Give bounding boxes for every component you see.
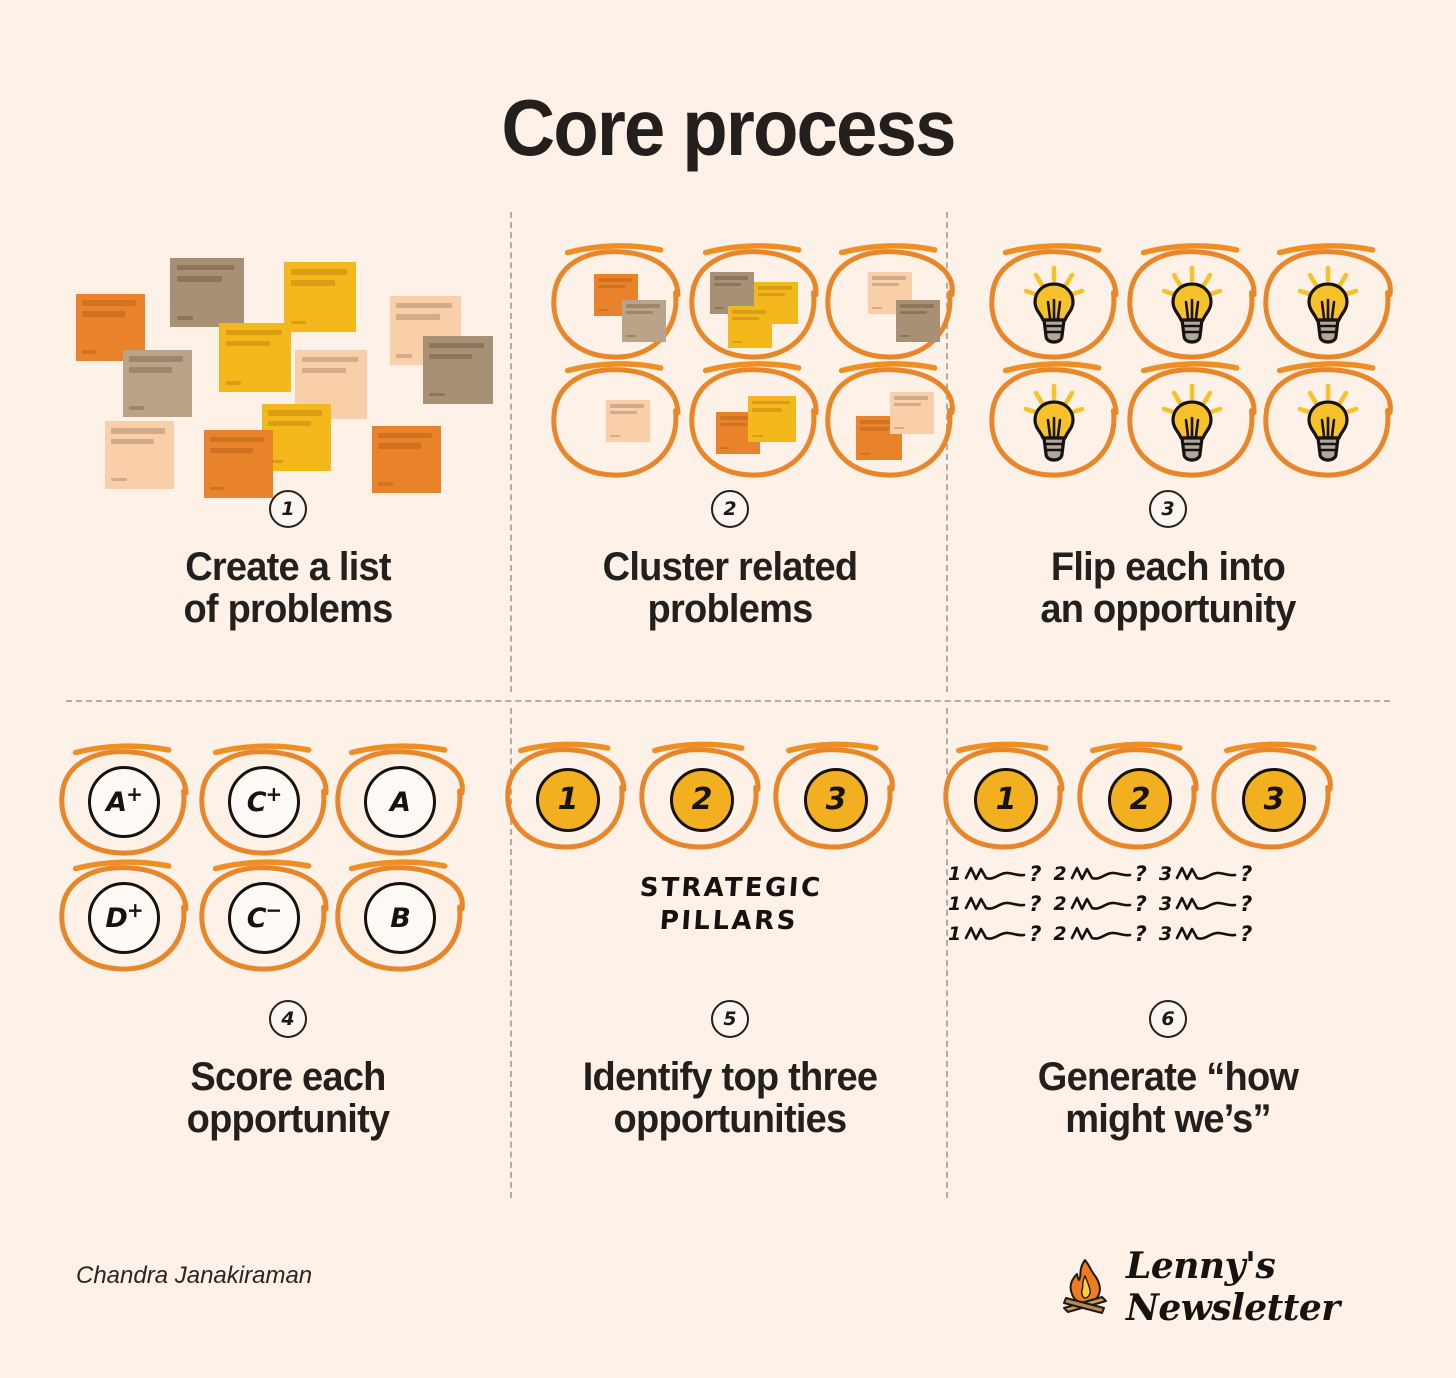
hmw-row-number: 3 [1159, 863, 1172, 885]
step-2-title: Cluster related problems [512, 546, 949, 631]
sticky-note-text-bar [226, 330, 282, 336]
sticky-note-text-bar [598, 278, 632, 281]
brand-name: Lenny's Newsletter [1126, 1245, 1456, 1329]
sticky-note-text-bar [111, 439, 154, 444]
step-5-illustration: 123STRATEGICPILLARS [500, 740, 960, 1000]
divider-horizontal [66, 700, 1390, 702]
hmw-row: 3? [1159, 892, 1252, 916]
hmw-question-mark: ? [1029, 892, 1041, 916]
sticky-note-text-bar [758, 286, 792, 289]
sticky-note [896, 300, 940, 342]
step-panel-1: 1 Create a list of problems [58, 240, 518, 631]
rank-number: 2 [1130, 785, 1151, 815]
hmw-row-number: 1 [948, 863, 961, 885]
sticky-note-text-bar [268, 410, 322, 415]
sticky-note-text-bar [111, 428, 165, 433]
step-3-number: 3 [1149, 490, 1187, 528]
sticky-note-text-bar [860, 453, 870, 455]
sticky-note-text-bar [872, 276, 906, 279]
sticky-note [890, 392, 934, 434]
step-1-number: 1 [269, 490, 307, 528]
sticky-note-text-bar [752, 408, 782, 412]
rank-circle: 2 [670, 768, 734, 832]
rank-number: 1 [996, 785, 1017, 815]
sticky-note [105, 421, 174, 488]
step-panel-2: 2 Cluster related problems [500, 240, 960, 631]
grade-label: D+ [105, 905, 142, 932]
step-5-title-line1: Identify top three [512, 1056, 949, 1098]
lightbulb-icon [1016, 380, 1092, 468]
sticky-note [606, 400, 650, 442]
step-1-title-line2: of problems [70, 588, 507, 630]
step-5-title: Identify top three opportunities [512, 1056, 949, 1141]
step-2-title-line1: Cluster related [512, 546, 949, 588]
grade-label: A [390, 789, 410, 816]
grade-label: B [390, 905, 410, 932]
rank-circle: 2 [1108, 768, 1172, 832]
grade-circle: A [364, 766, 436, 838]
step-panel-3: 3 Flip each into an opportunity [938, 240, 1398, 631]
sticky-note-text-bar [732, 310, 766, 313]
hmw-row: 3? [1159, 922, 1252, 946]
sticky-note-text-bar [226, 381, 242, 384]
sticky-note-text-bar [302, 357, 358, 363]
sticky-note [219, 323, 291, 392]
sticky-note-text-bar [177, 316, 193, 319]
hmw-column: 3?3?3? [1159, 862, 1252, 946]
step-4-illustration: A+C+AD+C−B [58, 740, 518, 1000]
pillars-line2: PILLARS [498, 905, 960, 938]
sticky-note-text-bar [396, 354, 412, 357]
sticky-note-text-bar [758, 293, 785, 296]
hmw-row-number: 2 [1053, 923, 1066, 945]
infographic-page: Core process 1 Create a list of problems… [0, 0, 1456, 1378]
step-6-illustration: 1231?1?1?2?2?2?3?3?3? [938, 740, 1398, 1000]
sticky-note-text-bar [129, 406, 144, 409]
sticky-note-text-bar [610, 411, 637, 414]
grade-circle: C− [228, 882, 300, 954]
sticky-note-text-bar [210, 437, 264, 442]
sticky-note-text-bar [177, 265, 235, 271]
sticky-note [123, 350, 192, 417]
hmw-row: 1? [948, 922, 1041, 946]
sticky-note-text-bar [610, 435, 620, 437]
hmw-question-mark: ? [1029, 862, 1041, 886]
sticky-note-text-bar [872, 307, 882, 309]
hmw-column: 1?1?1? [948, 862, 1041, 946]
hmw-row: 2? [1053, 862, 1146, 886]
hmw-row-number: 2 [1053, 863, 1066, 885]
pillars-line1: STRATEGIC [500, 872, 962, 905]
sticky-note-text-bar [900, 335, 910, 337]
sticky-note-text-bar [177, 276, 223, 282]
step-2-number: 2 [711, 490, 749, 528]
step-6-title: Generate “how might we’s” [950, 1056, 1387, 1141]
sticky-note-text-bar [82, 350, 97, 353]
sticky-note-text-bar [752, 401, 789, 405]
sticky-note-text-bar [210, 448, 253, 453]
hmw-question-mark: ? [1240, 892, 1252, 916]
step-5-number: 5 [711, 1000, 749, 1038]
step-2-illustration [500, 240, 960, 490]
rank-number: 2 [692, 785, 713, 815]
how-might-we-list: 1?1?1?2?2?2?3?3?3? [948, 862, 1252, 946]
step-6-number: 6 [1149, 1000, 1187, 1038]
hmw-row-number: 1 [948, 893, 961, 915]
rank-number: 1 [558, 785, 579, 815]
hmw-row-number: 3 [1159, 893, 1172, 915]
hmw-question-mark: ? [1029, 922, 1041, 946]
sticky-note-text-bar [429, 354, 472, 359]
sticky-note-text-bar [732, 317, 759, 320]
grade-circle: C+ [228, 766, 300, 838]
step-3-title: Flip each into an opportunity [950, 546, 1387, 631]
step-5-title-line2: opportunities [512, 1098, 949, 1140]
sticky-note-text-bar [129, 367, 172, 372]
rank-circle: 1 [974, 768, 1038, 832]
sticky-note [170, 258, 244, 327]
rank-circle: 3 [1242, 768, 1306, 832]
campfire-icon [1058, 1256, 1112, 1319]
sticky-note [284, 262, 356, 331]
sticky-note [748, 396, 796, 442]
step-6-title-line2: might we’s” [950, 1098, 1387, 1140]
sticky-note-text-bar [378, 443, 421, 448]
rank-number: 3 [826, 785, 847, 815]
step-1-illustration [58, 240, 518, 490]
sticky-note-text-bar [732, 341, 742, 343]
sticky-note-text-bar [894, 396, 928, 399]
step-1-title: Create a list of problems [70, 546, 507, 631]
sticky-note [622, 300, 666, 342]
sticky-note-text-bar [720, 423, 747, 426]
sticky-note-text-bar [894, 403, 921, 406]
sticky-note-text-bar [396, 303, 452, 309]
step-3-title-line1: Flip each into [950, 546, 1387, 588]
sticky-note-text-bar [714, 283, 741, 286]
step-4-title-line2: opportunity [70, 1098, 507, 1140]
sticky-note-text-bar [291, 280, 335, 286]
grade-label: A+ [106, 789, 142, 816]
lightbulb-icon [1016, 262, 1092, 350]
sticky-note-text-bar [429, 343, 483, 348]
hmw-row-number: 1 [948, 923, 961, 945]
sticky-note-text-bar [714, 307, 724, 309]
step-1-title-line1: Create a list [70, 546, 507, 588]
hmw-question-mark: ? [1240, 922, 1252, 946]
sticky-note [728, 306, 772, 348]
sticky-note-text-bar [894, 427, 904, 429]
step-6-title-line1: Generate “how [950, 1056, 1387, 1098]
sticky-note-text-bar [378, 482, 393, 485]
sticky-note-text-bar [598, 285, 625, 288]
sticky-note-text-bar [860, 427, 889, 431]
rank-number: 3 [1264, 785, 1285, 815]
sticky-note-text-bar [302, 368, 346, 374]
sticky-note-text-bar [872, 283, 899, 286]
brand-logo: Lenny's Newsletter [1058, 1245, 1456, 1329]
sticky-note-text-bar [396, 314, 440, 320]
sticky-note-text-bar [626, 311, 653, 314]
sticky-note-text-bar [82, 311, 125, 316]
sticky-note [372, 426, 441, 493]
hmw-question-mark: ? [1135, 892, 1147, 916]
grade-label: C− [247, 905, 282, 932]
rank-circle: 1 [536, 768, 600, 832]
hmw-question-mark: ? [1240, 862, 1252, 886]
hmw-row: 2? [1053, 892, 1146, 916]
hmw-row: 2? [1053, 922, 1146, 946]
author-credit: Chandra Janakiraman [76, 1262, 312, 1290]
sticky-note-text-bar [129, 356, 183, 361]
lightbulb-icon [1290, 262, 1366, 350]
grade-circle: A+ [88, 766, 160, 838]
step-4-title-line1: Score each [70, 1056, 507, 1098]
hmw-question-mark: ? [1135, 922, 1147, 946]
sticky-note-text-bar [720, 447, 730, 449]
hmw-column: 2?2?2? [1053, 862, 1146, 946]
sticky-note-text-bar [111, 478, 126, 481]
hmw-row: 3? [1159, 862, 1252, 886]
sticky-note [204, 430, 273, 497]
sticky-note-text-bar [82, 300, 136, 305]
lightbulb-icon [1290, 380, 1366, 468]
sticky-note-text-bar [900, 304, 934, 307]
lightbulb-icon [1154, 380, 1230, 468]
sticky-note [423, 336, 492, 403]
sticky-note-text-bar [429, 393, 444, 396]
page-title: Core process [51, 82, 1405, 174]
step-panel-5: 123STRATEGICPILLARS 5 Identify top three… [500, 740, 960, 1141]
step-4-title: Score each opportunity [70, 1056, 507, 1141]
step-3-illustration [938, 240, 1398, 490]
sticky-note-text-bar [610, 404, 644, 407]
step-panel-6: 1231?1?1?2?2?2?3?3?3? 6 Generate “how mi… [938, 740, 1398, 1141]
sticky-note-text-bar [291, 269, 347, 275]
sticky-note-text-bar [378, 433, 432, 438]
hmw-row-number: 3 [1159, 923, 1172, 945]
hmw-row: 1? [948, 862, 1041, 886]
step-panel-4: A+C+AD+C−B 4 Score each opportunity [58, 740, 518, 1141]
sticky-note-text-bar [714, 276, 748, 279]
sticky-note-text-bar [268, 421, 311, 426]
step-2-title-line2: problems [512, 588, 949, 630]
lightbulb-icon [1154, 262, 1230, 350]
sticky-note-text-bar [752, 435, 763, 437]
sticky-note-text-bar [900, 311, 927, 314]
grade-circle: B [364, 882, 436, 954]
hmw-row: 1? [948, 892, 1041, 916]
sticky-note-text-bar [291, 321, 307, 324]
hmw-question-mark: ? [1135, 862, 1147, 886]
rank-circle: 3 [804, 768, 868, 832]
sticky-note-text-bar [626, 335, 636, 337]
strategic-pillars-label: STRATEGICPILLARS [498, 872, 963, 937]
sticky-note-text-bar [626, 304, 660, 307]
step-4-number: 4 [269, 1000, 307, 1038]
step-3-title-line2: an opportunity [950, 588, 1387, 630]
sticky-note-text-bar [226, 341, 270, 347]
sticky-note-text-bar [210, 487, 225, 490]
grade-circle: D+ [88, 882, 160, 954]
sticky-note-text-bar [598, 309, 608, 311]
grade-label: C+ [247, 789, 282, 816]
hmw-row-number: 2 [1053, 893, 1066, 915]
